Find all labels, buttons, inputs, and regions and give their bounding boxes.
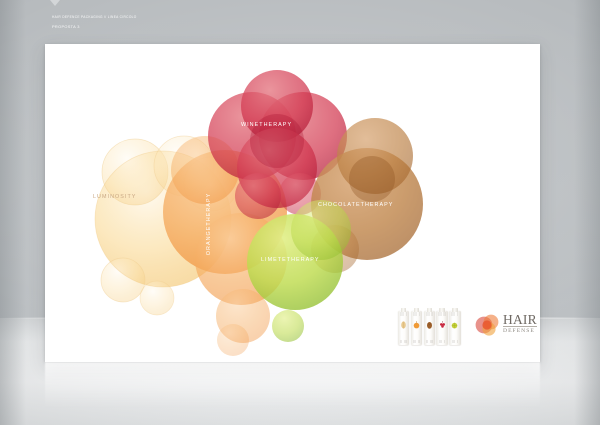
- bottle-ribs: [451, 312, 458, 316]
- project-subtitle: HAIR DEFENCE PACKAGING // LINEA CIRCOLO: [52, 14, 352, 20]
- bottle-ribs: [400, 312, 407, 316]
- top-pointer-notch-icon: [50, 0, 60, 6]
- bottle-luminosity[interactable]: [398, 311, 409, 345]
- orange-icon: [413, 318, 420, 330]
- lime-icon: [451, 318, 458, 330]
- bottle-chocolatetherapy[interactable]: [424, 311, 435, 345]
- bubble-diagram: [45, 44, 540, 362]
- bottle-ribs: [413, 312, 420, 316]
- bottle-ribs: [426, 312, 433, 316]
- bottle-winetherapy[interactable]: [436, 311, 447, 345]
- seed-icon: [400, 318, 407, 330]
- bottle-barcode: [400, 340, 407, 343]
- grape-icon: [439, 318, 446, 330]
- bottle-barcode: [452, 340, 459, 343]
- bottle-limetetherapy[interactable]: [449, 311, 460, 345]
- proposal-number: PROPOSTA 3: [52, 23, 352, 31]
- logo-tagline: DEFENSE: [503, 326, 537, 335]
- presentation-slide[interactable]: LUMINOSITY WINETHERAPY ORANGETHERAPY CHO…: [45, 44, 540, 362]
- brand-logo[interactable]: HAIR DEFENSE: [475, 309, 537, 343]
- logo-name: HAIR: [503, 313, 537, 326]
- logo-circles-mark-icon: [475, 312, 501, 338]
- logo-wordmark: HAIR DEFENSE: [503, 313, 537, 335]
- product-bottle-row: [398, 307, 464, 345]
- bottle-ribs: [438, 312, 445, 316]
- header-caption: HAIR DEFENCE PACKAGING // LINEA CIRCOLO …: [52, 14, 352, 31]
- bottle-barcode: [439, 340, 446, 343]
- cocoa-icon: [426, 318, 433, 330]
- bottle-barcode: [426, 340, 433, 343]
- bottle-orangetherapy[interactable]: [411, 311, 422, 345]
- bottle-barcode: [413, 340, 420, 343]
